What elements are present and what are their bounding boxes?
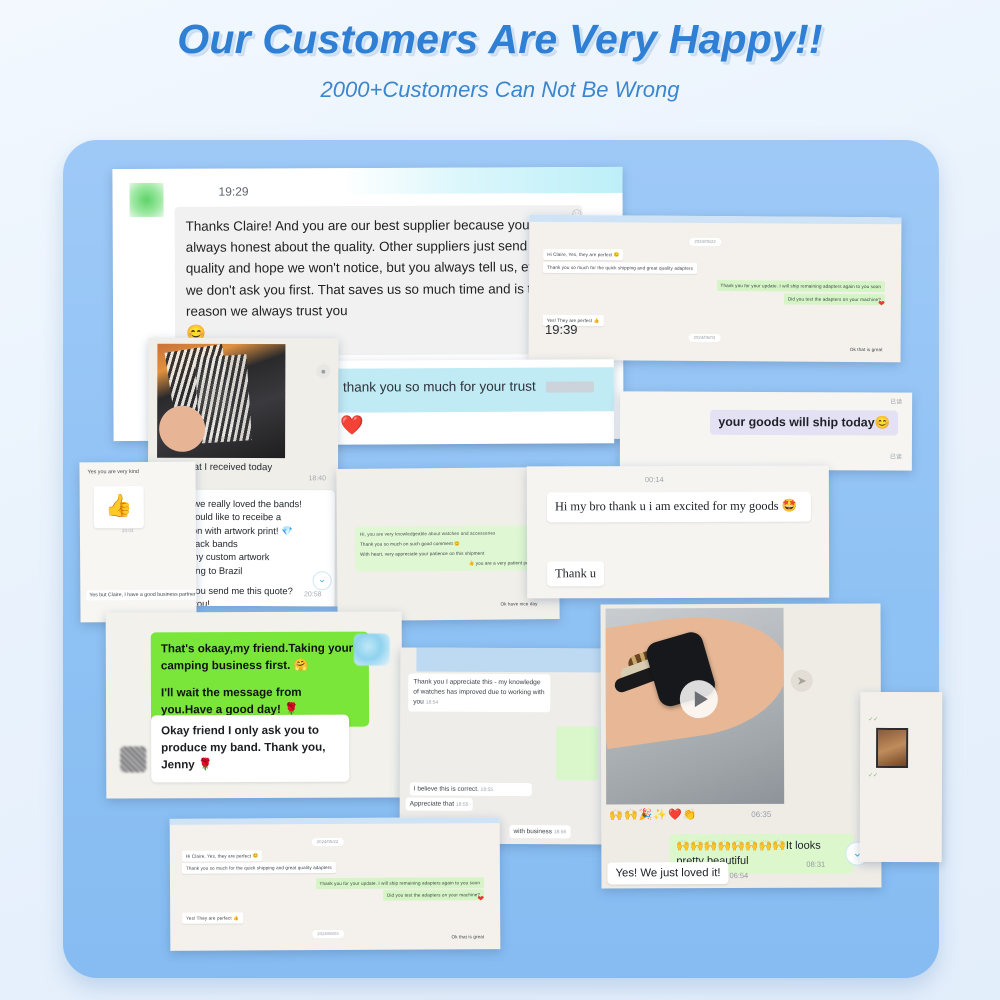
chat-message: Ok have nice day xyxy=(500,600,537,607)
page-title: Our Customers Are Very Happy!! xyxy=(0,16,1000,63)
page-header: Our Customers Are Very Happy!! 2000+Cust… xyxy=(0,0,1000,103)
menu-dot-icon[interactable]: ● xyxy=(316,364,330,378)
window-titlebar xyxy=(416,648,606,673)
play-icon[interactable] xyxy=(680,680,718,718)
read-receipt-top: 已读 xyxy=(890,397,902,406)
correct-text: I believe this is correct. xyxy=(414,786,479,793)
date-pill-top: 2024/05/22 xyxy=(689,237,721,245)
appreciate-message: Appreciate that 18:55 xyxy=(406,797,473,810)
chat-message: 👍 you are a very patient person xyxy=(360,560,538,569)
business-timestamp: 18:56 xyxy=(554,829,567,835)
correct-timestamp: 18:55 xyxy=(481,787,494,793)
comments-thread: Hi, you are very knowledgeable about wat… xyxy=(355,525,543,572)
heart-reaction-icon: ❤️ xyxy=(340,414,364,438)
camping-business-card[interactable]: That's okaay,my friend.Taking your campi… xyxy=(106,611,403,798)
read-check-icon: ✓✓ xyxy=(868,716,878,723)
outgoing-green-bubble xyxy=(556,726,598,780)
thumbs-up-icon: 👍 xyxy=(94,486,144,528)
trust-message-text: thank you so much for your trust xyxy=(343,378,594,394)
chat-message: With heart, very appreciate your patienc… xyxy=(360,549,538,558)
received-bands-photo[interactable] xyxy=(157,344,285,458)
excited-goods-card[interactable]: 00:14 Hi my bro thank u i am excited for… xyxy=(527,466,829,599)
green-line-1: That's okaay,my friend.Taking your xyxy=(161,640,359,658)
emoji-row: 🙌🙌🎉✨❤️👏 xyxy=(609,808,697,821)
read-check-icon: ✓✓ xyxy=(868,772,878,779)
ship-today-card[interactable]: 已读 your goods will ship today😊 已读 xyxy=(620,391,912,470)
heart-reaction-icon: ❤ xyxy=(878,299,885,308)
video-thumbnail[interactable] xyxy=(606,608,785,805)
bottom-duplicate-adapters-card[interactable]: 2024/05/22 Hi Claire, Yes, they are perf… xyxy=(170,817,501,951)
loved-it-message: Yes! We just loved it! xyxy=(607,862,728,884)
correct-message: I believe this is correct. 18:55 xyxy=(410,783,532,797)
video-timestamp: 06:35 xyxy=(751,810,771,819)
avatar xyxy=(120,746,146,772)
chat-message: Thank you so much for the quick shipping… xyxy=(543,262,697,274)
chat-message: Did you test the adapters on your machin… xyxy=(784,293,885,305)
incoming-white-message: Okay friend I only ask you to produce my… xyxy=(151,715,349,782)
blurred-name xyxy=(546,381,594,392)
business-text: with business xyxy=(514,828,552,835)
knowledge-timestamp: 18:54 xyxy=(426,699,439,705)
appreciate-timestamp: 18:55 xyxy=(456,802,469,808)
business-message: with business 18:56 xyxy=(510,825,571,838)
avatar xyxy=(129,183,163,217)
green-line-3: I'll wait the message from xyxy=(161,684,359,702)
quote-timestamp: 20:58 xyxy=(304,591,322,598)
photo-hand xyxy=(159,406,205,452)
forward-icon[interactable]: ➤ xyxy=(791,670,813,692)
excited-message: Hi my bro thank u i am excited for my go… xyxy=(547,492,811,522)
partner-message: Yes but Claire, I have a good business p… xyxy=(86,589,196,601)
message-text: Thanks Claire! And you are our best supp… xyxy=(175,205,584,356)
kind-timestamp: 20:03 xyxy=(122,528,134,533)
ship-today-message: your goods will ship today😊 xyxy=(710,410,898,436)
adapters-card-time-label: 19:39 xyxy=(545,322,578,337)
kind-message: Yes you are very kind xyxy=(87,469,138,475)
trust-bubble-card[interactable]: thank you so much for your trust ❤️ xyxy=(318,359,614,445)
green-line-2: camping business first. 🤗 xyxy=(161,657,359,675)
chat-message: Yes! They are perfect 👍 xyxy=(182,912,243,923)
message-body: Thanks Claire! And you are our best supp… xyxy=(186,217,561,318)
date-pill-bottom: 2024/06/03 xyxy=(312,929,344,937)
date-pill-bottom: 2024/06/03 xyxy=(689,333,721,341)
date-pill-top: 2024/05/22 xyxy=(312,837,344,845)
chat-message: Thank you so much on such good comment 😊 xyxy=(360,539,538,548)
chat-window-topbar xyxy=(112,167,622,195)
message-time: 19:29 xyxy=(218,185,248,199)
chat-message: Ok that is great xyxy=(850,347,883,352)
read-receipt-bottom: 已读 xyxy=(890,452,902,461)
sticker-image xyxy=(354,634,390,666)
right-edge-sliver-card[interactable]: ✓✓ ✓✓ xyxy=(860,692,943,862)
chat-message: Thank you so much for the quick shipping… xyxy=(182,862,336,874)
chat-message: Ok that is great xyxy=(452,934,485,939)
chat-message: Did you test the adapters on your machin… xyxy=(383,889,484,901)
chat-message: Hi, you are very knowledgeable about wat… xyxy=(360,529,538,538)
chat-time-divider: 00:14 xyxy=(645,475,664,484)
adapters-chat-card[interactable]: 2024/05/22 Hi Claire, Yes, they are perf… xyxy=(528,215,901,363)
caption-timestamp: 18:40 xyxy=(308,475,326,482)
watch-video-card[interactable]: ➤ 🙌🙌🎉✨❤️👏 06:35 🙌🙌🙌🙌🙌🙌🙌🙌It looks pretty … xyxy=(601,604,882,889)
appreciate-text: Appreciate that xyxy=(410,801,454,808)
watch-knowledge-card[interactable]: Thank you I appreciate this - my knowled… xyxy=(399,647,610,844)
thank-u-message: Thank u xyxy=(547,561,604,586)
page-subtitle: 2000+Customers Can Not Be Wrong xyxy=(0,77,1000,103)
heart-reaction-icon: ❤ xyxy=(477,894,484,903)
very-kind-card[interactable]: Yes you are very kind 👍 20:03 Yes but Cl… xyxy=(79,462,196,623)
window-titlebar xyxy=(529,215,901,225)
loved-it-timestamp: 06:54 xyxy=(729,871,748,880)
thumbnail-image[interactable] xyxy=(876,728,908,768)
outgoing-green-message: That's okaay,my friend.Taking your campi… xyxy=(151,632,369,727)
scroll-down-icon[interactable]: ⌄ xyxy=(313,571,332,590)
green-message-timestamp: 08:31 xyxy=(806,860,825,869)
trust-message: thank you so much for your trust xyxy=(343,379,536,395)
knowledge-message: Thank you I appreciate this - my knowled… xyxy=(408,673,550,711)
window-titlebar xyxy=(170,817,500,825)
